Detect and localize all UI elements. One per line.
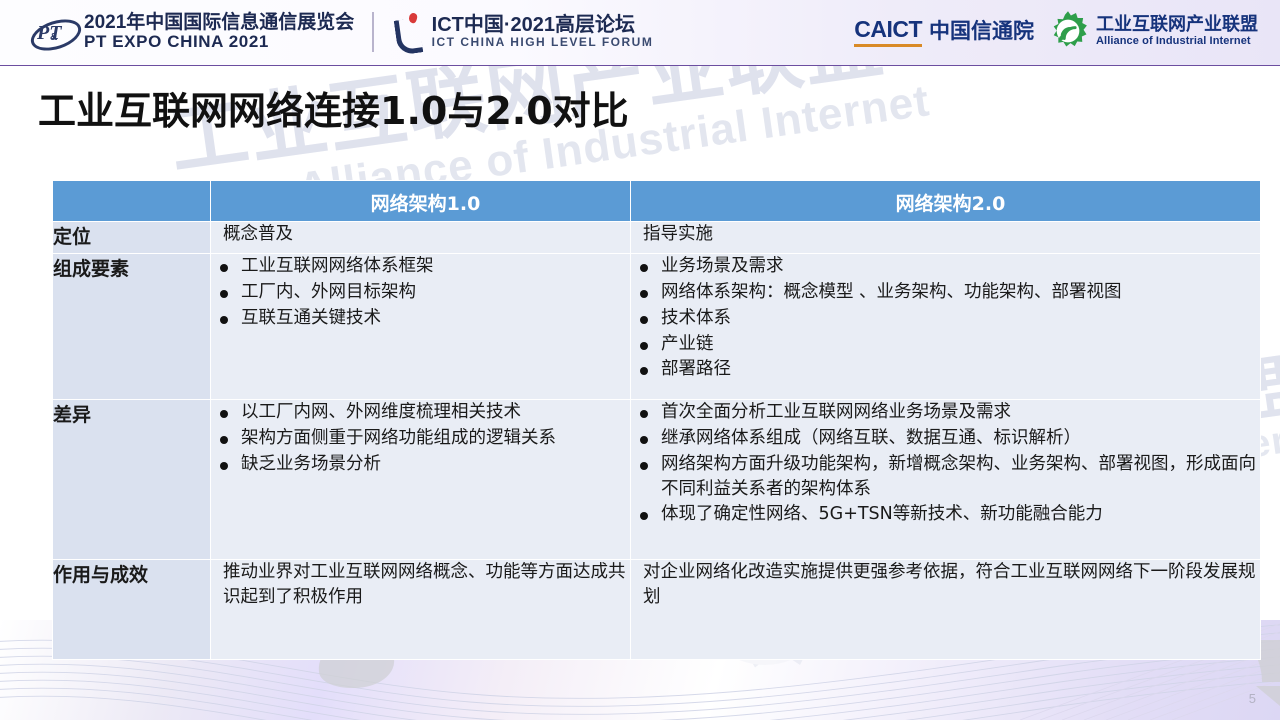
pt-expo-wordmark: 2021年中国国际信息通信展览会 PT EXPO CHINA 2021 <box>84 13 354 51</box>
ict-forum-logo-icon <box>392 11 426 53</box>
bullet-list-differences-2: 首次全面分析工业互联网网络业务场景及需求 继承网络体系组成（网络互联、数据互通、… <box>631 400 1260 527</box>
cell-effects-2: 对企业网络化改造实施提供更强参考依据，符合工业互联网网络下一阶段发展规划 <box>631 560 1261 660</box>
cell-components-1: 工业互联网网络体系框架 工厂内、外网目标架构 互联互通关键技术 <box>211 254 631 400</box>
aii-name-cn: 工业互联网产业联盟 <box>1096 14 1258 35</box>
row-label-differences: 差异 <box>53 400 211 560</box>
table-row: 组成要素 工业互联网网络体系框架 工厂内、外网目标架构 互联互通关键技术 业务场… <box>53 254 1261 400</box>
ict-forum-title-cn: ICT中国·2021高层论坛 <box>432 14 654 36</box>
page-title: 工业互联网网络连接1.0与2.0对比 <box>38 80 629 135</box>
caict-logo: CAICT 中国信通院 <box>854 15 1034 47</box>
aii-logo: 工业互联网产业联盟 Alliance of Industrial Interne… <box>1047 10 1258 52</box>
aii-wordmark: 工业互联网产业联盟 Alliance of Industrial Interne… <box>1096 14 1258 47</box>
list-item: 网络体系架构：概念模型 、业务架构、功能架构、部署视图 <box>631 280 1260 305</box>
slide: 工业互联网产业联盟 Alliance of Industrial Interne… <box>0 0 1280 720</box>
pt-expo-title-cn: 2021年中国国际信息通信展览会 <box>84 13 354 33</box>
table-row: 定位 概念普及 指导实施 <box>53 222 1261 254</box>
header-bar: PT & 2021年中国国际信息通信展览会 PT EXPO CHINA 2021… <box>0 0 1280 66</box>
list-item: 部署路径 <box>631 357 1260 382</box>
bullet-list-components-2: 业务场景及需求 网络体系架构：概念模型 、业务架构、功能架构、部署视图 技术体系… <box>631 254 1260 382</box>
cell-positioning-1: 概念普及 <box>211 222 631 254</box>
list-item: 业务场景及需求 <box>631 254 1260 279</box>
list-item: 产业链 <box>631 332 1260 357</box>
caict-name-cn: 中国信通院 <box>929 15 1034 47</box>
row-label-positioning: 定位 <box>53 222 211 254</box>
ict-forum-wordmark: ICT中国·2021高层论坛 ICT CHINA HIGH LEVEL FORU… <box>432 14 654 49</box>
cell-effects-1: 推动业界对工业互联网网络概念、功能等方面达成共识起到了积极作用 <box>211 560 631 660</box>
table-row: 作用与成效 推动业界对工业互联网网络概念、功能等方面达成共识起到了积极作用 对企… <box>53 560 1261 660</box>
list-item: 工业互联网网络体系框架 <box>211 254 630 279</box>
cell-differences-2: 首次全面分析工业互联网网络业务场景及需求 继承网络体系组成（网络互联、数据互通、… <box>631 400 1261 560</box>
list-item: 缺乏业务场景分析 <box>211 452 630 477</box>
list-item: 继承网络体系组成（网络互联、数据互通、标识解析） <box>631 426 1260 451</box>
table-header-blank <box>53 181 211 222</box>
list-item: 架构方面侧重于网络功能组成的逻辑关系 <box>211 426 630 451</box>
cell-positioning-2: 指导实施 <box>631 222 1261 254</box>
list-item: 互联互通关键技术 <box>211 306 630 331</box>
aii-gear-icon <box>1047 10 1089 52</box>
aii-name-en: Alliance of Industrial Internet <box>1096 35 1258 48</box>
comparison-table: 网络架构1.0 网络架构2.0 定位 概念普及 指导实施 组成要素 工业互联网网… <box>52 180 1261 660</box>
row-label-components: 组成要素 <box>53 254 211 400</box>
table-header-row: 网络架构1.0 网络架构2.0 <box>53 181 1261 222</box>
caict-underline <box>854 44 922 47</box>
page-number: 5 <box>1249 691 1256 706</box>
list-item: 工厂内、外网目标架构 <box>211 280 630 305</box>
bullet-list-components-1: 工业互联网网络体系框架 工厂内、外网目标架构 互联互通关键技术 <box>211 254 630 331</box>
table-header-arch-2: 网络架构2.0 <box>631 181 1261 222</box>
pt-expo-logo-icon: PT & <box>28 12 82 52</box>
list-item: 网络架构方面升级功能架构，新增概念架构、业务架构、部署视图，形成面向不同利益关系… <box>631 452 1260 502</box>
cell-components-2: 业务场景及需求 网络体系架构：概念模型 、业务架构、功能架构、部署视图 技术体系… <box>631 254 1261 400</box>
pt-expo-title-en: PT EXPO CHINA 2021 <box>84 33 354 51</box>
right-logo-group: CAICT 中国信通院 <box>854 10 1258 52</box>
table-row: 差异 以工厂内网、外网维度梳理相关技术 架构方面侧重于网络功能组成的逻辑关系 缺… <box>53 400 1261 560</box>
list-item: 以工厂内网、外网维度梳理相关技术 <box>211 400 630 425</box>
list-item: 技术体系 <box>631 306 1260 331</box>
left-logo-group: PT & 2021年中国国际信息通信展览会 PT EXPO CHINA 2021… <box>28 11 653 53</box>
table-header-arch-1: 网络架构1.0 <box>211 181 631 222</box>
list-item: 首次全面分析工业互联网网络业务场景及需求 <box>631 400 1260 425</box>
pt-ampersand: & <box>50 32 57 43</box>
ict-forum-title-en: ICT CHINA HIGH LEVEL FORUM <box>432 36 654 49</box>
caict-abbr: CAICT <box>854 16 922 43</box>
row-label-effects: 作用与成效 <box>53 560 211 660</box>
logo-divider <box>372 12 373 52</box>
bullet-list-differences-1: 以工厂内网、外网维度梳理相关技术 架构方面侧重于网络功能组成的逻辑关系 缺乏业务… <box>211 400 630 477</box>
list-item: 体现了确定性网络、5G+TSN等新技术、新功能融合能力 <box>631 502 1260 527</box>
cell-differences-1: 以工厂内网、外网维度梳理相关技术 架构方面侧重于网络功能组成的逻辑关系 缺乏业务… <box>211 400 631 560</box>
